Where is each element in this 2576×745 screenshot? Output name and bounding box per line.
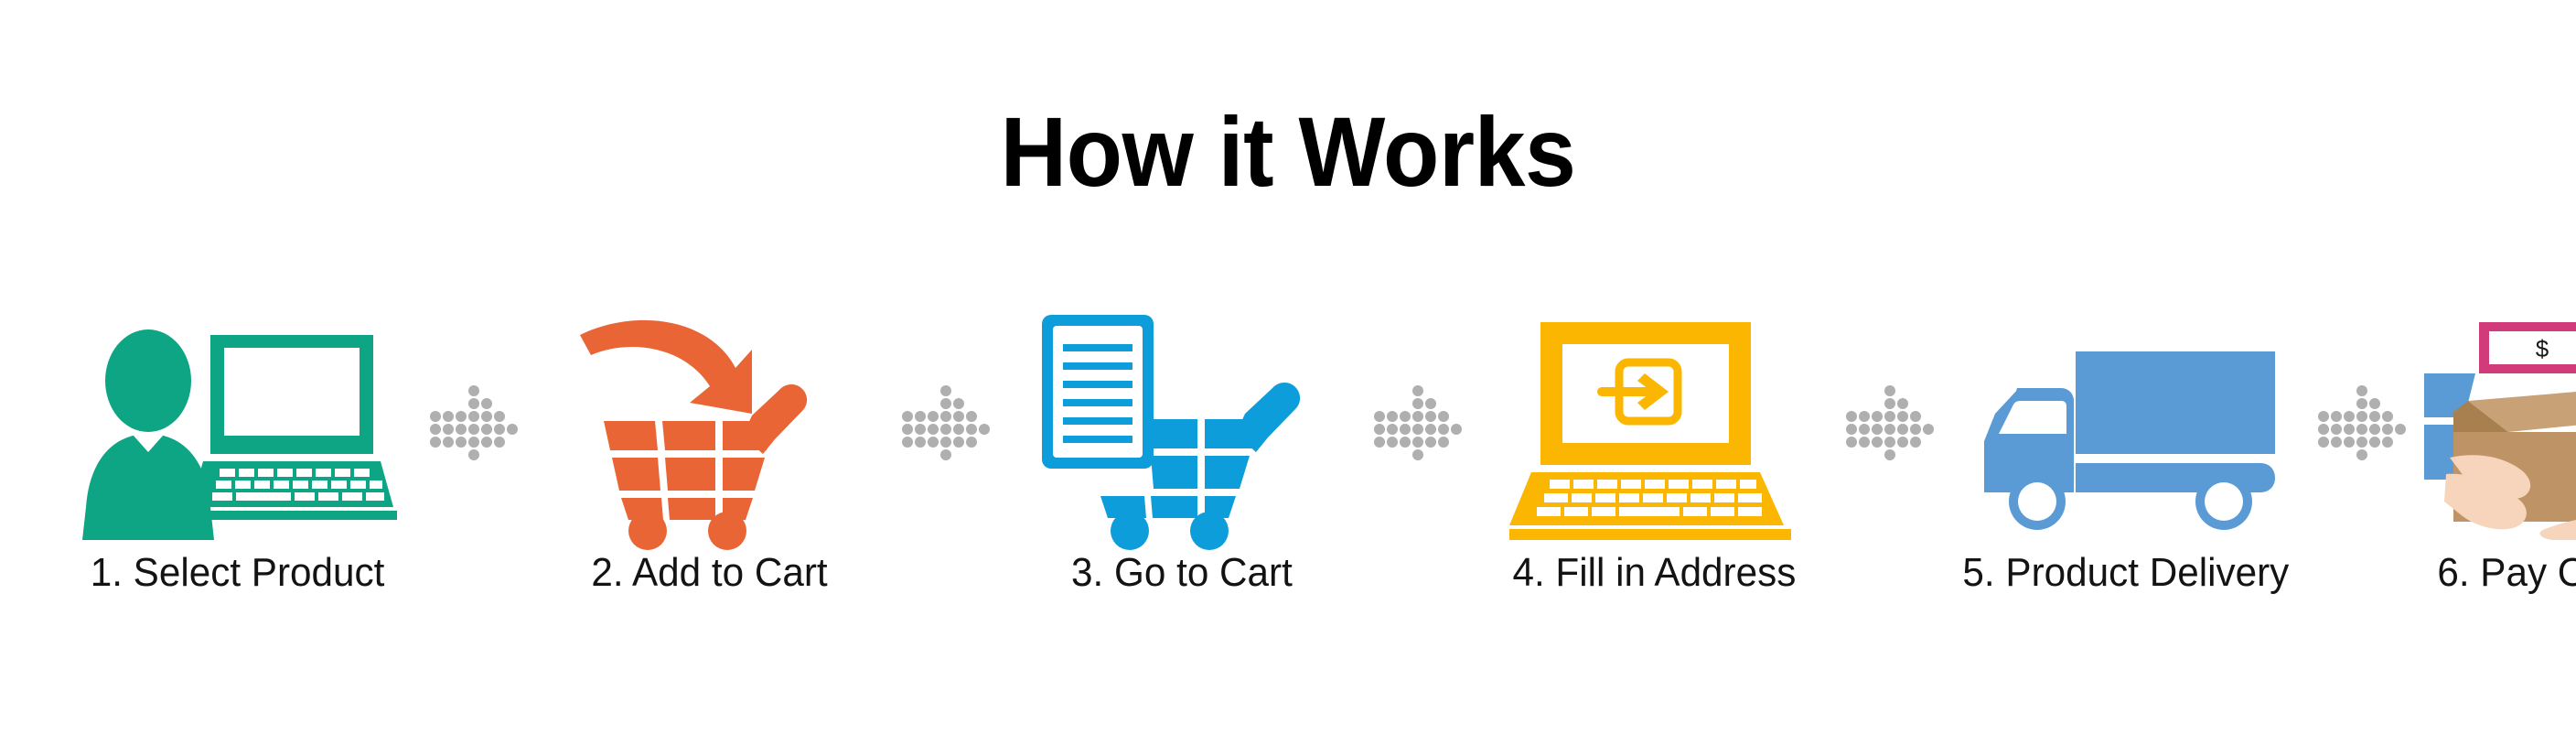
step-6-label: 6. Pay On Delivery xyxy=(2437,551,2576,595)
step-5-icon-box xyxy=(1943,302,2309,540)
laptop-with-login-arrow-icon xyxy=(1509,319,1798,540)
step-4-label: 4. Fill in Address xyxy=(1512,551,1796,595)
how-it-works-infographic: How it Works xyxy=(0,0,2576,745)
step-4-icon-box xyxy=(1471,302,1837,540)
dotted-arrow-right-icon xyxy=(428,383,520,462)
step-1-select-product[interactable]: 1. Select Product xyxy=(55,302,421,632)
hands-exchanging-box-and-money-icon: $ xyxy=(2424,304,2576,540)
step-2-icon-box xyxy=(527,302,893,540)
step-1-icon-box xyxy=(55,302,421,540)
step-4-fill-in-address[interactable]: 4. Fill in Address xyxy=(1471,302,1837,632)
dotted-arrow-right-icon xyxy=(2316,383,2408,462)
step-2-label: 2. Add to Cart xyxy=(592,551,828,595)
separator-3 xyxy=(1365,258,1471,588)
person-with-laptop-icon xyxy=(82,328,393,540)
step-5-product-delivery[interactable]: 5. Product Delivery xyxy=(1943,302,2309,632)
step-5-label: 5. Product Delivery xyxy=(1963,551,2290,595)
document-with-cart-icon xyxy=(1040,311,1324,540)
step-1-label: 1. Select Product xyxy=(91,551,385,595)
dotted-arrow-right-icon xyxy=(1844,383,1936,462)
separator-5 xyxy=(2309,258,2415,588)
page-title: How it Works xyxy=(91,103,2486,201)
separator-2 xyxy=(893,258,999,588)
dotted-arrow-right-icon xyxy=(900,383,992,462)
step-6-pay-on-delivery[interactable]: $ xyxy=(2415,302,2576,632)
step-3-label: 3. Go to Cart xyxy=(1071,551,1293,595)
separator-1 xyxy=(421,258,527,588)
step-3-go-to-cart[interactable]: 3. Go to Cart xyxy=(999,302,1365,632)
step-6-icon-box: $ xyxy=(2415,302,2576,540)
step-2-add-to-cart[interactable]: 2. Add to Cart xyxy=(527,302,893,632)
step-3-icon-box xyxy=(999,302,1365,540)
separator-4 xyxy=(1837,258,1943,588)
steps-row: 1. Select Product xyxy=(55,302,2525,632)
delivery-truck-icon xyxy=(1975,350,2277,540)
cart-with-incoming-arrow-icon xyxy=(573,311,847,540)
banknote: $ xyxy=(2479,322,2576,373)
money-symbol: $ xyxy=(2536,335,2549,362)
dotted-arrow-right-icon xyxy=(1372,383,1464,462)
